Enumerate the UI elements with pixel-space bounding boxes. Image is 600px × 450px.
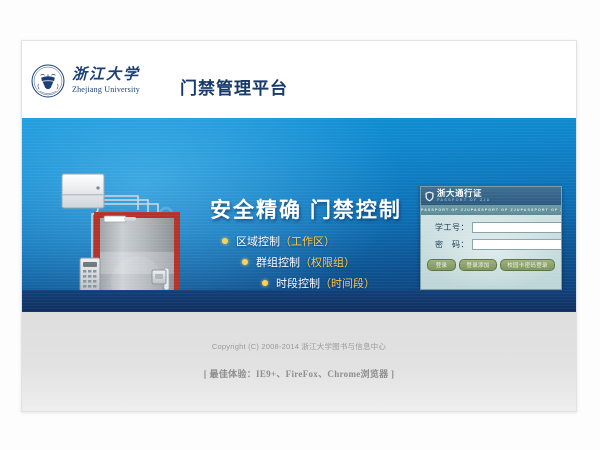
footer-copyright: Copyright (C) 2008-2014 浙江大学图书与信息中心 (22, 341, 576, 352)
login-button-row: 登录 登录添加 校园卡密码登录 (427, 259, 555, 271)
banner-feature-list: 区域控制 （工作区） 群组控制 （权限组） 时段控制 （时间段） (222, 233, 432, 296)
page-root: 浙江大学 Zhejiang University 门禁管理平台 (0, 0, 600, 450)
shield-icon (425, 191, 434, 202)
password-label: 密 码： (427, 239, 472, 250)
site-header: 浙江大学 Zhejiang University 门禁管理平台 (22, 41, 576, 118)
banner-bottom-band (22, 290, 576, 312)
passport-strip-text: PASSPORT OF ZJU (521, 208, 561, 212)
list-item: 时段控制 （时间段） (222, 275, 432, 291)
university-name-cn: 浙江大学 (72, 68, 140, 84)
site-footer: Copyright (C) 2008-2014 浙江大学图书与信息中心 [ 最佳… (22, 312, 576, 412)
bullet-paren-text: （工作区） (280, 233, 335, 249)
username-field-row: 学工号： (427, 222, 555, 233)
bullet-dot-icon (242, 259, 248, 265)
password-input[interactable] (472, 239, 562, 250)
bullet-dot-icon (222, 238, 228, 244)
username-label: 学工号： (427, 222, 472, 233)
password-field-row: 密 码： (427, 239, 555, 250)
passport-strip-text: PASSPORT OF ZJU (471, 208, 521, 212)
login-title-en: PASSPORT OF ZJU (437, 199, 491, 203)
login-button[interactable]: 登录 (427, 259, 456, 271)
campus-card-password-login-button[interactable]: 校园卡密码登录 (500, 259, 555, 271)
bullet-main-text: 时段控制 (276, 275, 320, 291)
bullet-paren-text: （时间段） (320, 275, 375, 291)
banner-headline: 安全精确 门禁控制 (210, 194, 402, 224)
zhejiang-university-seal-icon (31, 64, 65, 98)
passport-strip: PASSPORT OF ZJU PASSPORT OF ZJU PASSPORT… (421, 205, 561, 215)
bullet-dot-icon (262, 280, 268, 286)
list-item: 群组控制 （权限组） (222, 254, 432, 270)
footer-browser-note: [ 最佳体验：IE9+、FireFox、Chrome浏览器 ] (22, 367, 576, 380)
login-add-button[interactable]: 登录添加 (459, 259, 497, 271)
passport-strip-text: PASSPORT OF ZJU (421, 208, 471, 212)
main-card: 浙江大学 Zhejiang University 门禁管理平台 (21, 40, 577, 412)
university-logo[interactable]: 浙江大学 Zhejiang University (31, 64, 140, 98)
page-title: 门禁管理平台 (180, 74, 288, 99)
login-panel: 浙大通行证 PASSPORT OF ZJU PASSPORT OF ZJU PA… (420, 186, 562, 290)
username-input[interactable] (472, 222, 562, 233)
university-name-en: Zhejiang University (72, 85, 140, 95)
list-item: 区域控制 （工作区） (222, 233, 432, 249)
hero-banner: 安全精确 门禁控制 区域控制 （工作区） 群组控制 （权限组） 时段控制 （时间… (22, 118, 576, 312)
login-form: 学工号： 密 码： 登录 登录添加 校园卡密码登录 (421, 215, 561, 290)
university-wordmark: 浙江大学 Zhejiang University (72, 68, 140, 94)
login-panel-header: 浙大通行证 PASSPORT OF ZJU (421, 187, 561, 205)
bullet-main-text: 群组控制 (256, 254, 300, 270)
bullet-main-text: 区域控制 (236, 233, 280, 249)
login-title-cn: 浙大通行证 (437, 189, 491, 198)
bullet-paren-text: （权限组） (300, 254, 355, 270)
